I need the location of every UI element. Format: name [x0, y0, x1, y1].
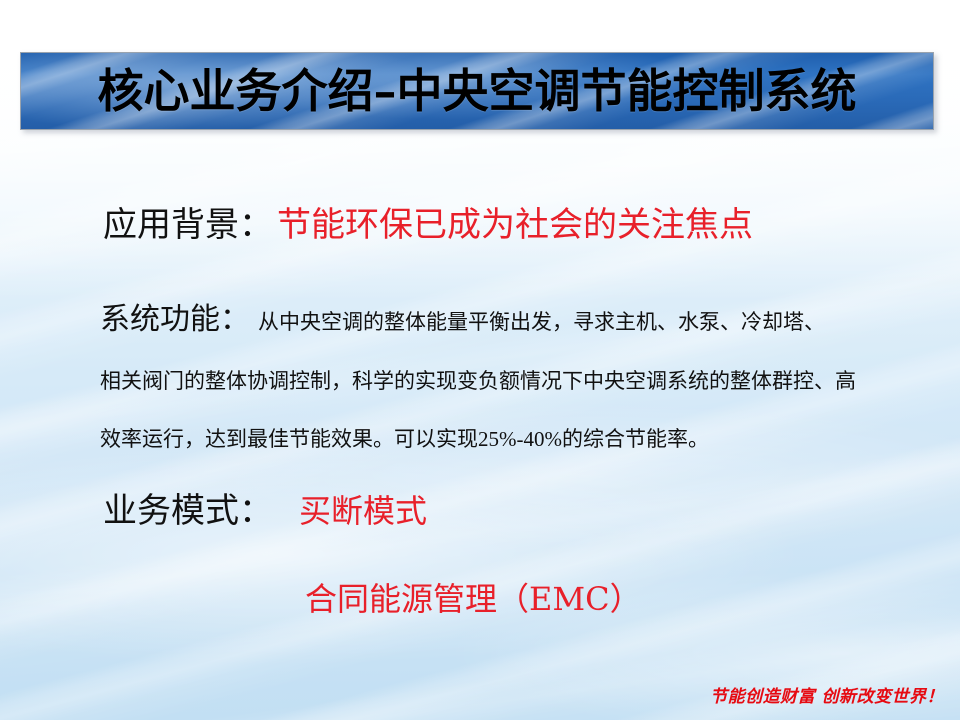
- section-application-background: 应用背景： 节能环保已成为社会的关注焦点: [103, 205, 753, 246]
- system-function-line-1: 从中央空调的整体能量平衡出发，寻求主机、水泵、冷却塔、: [258, 307, 825, 337]
- business-model-option-buyout: 买断模式: [299, 490, 427, 532]
- slide-content: 应用背景： 节能环保已成为社会的关注焦点 系统功能： 从中央空调的整体能量平衡出…: [0, 0, 960, 720]
- system-function-line-3: 效率运行，达到最佳节能效果。可以实现25%-40%的综合节能率。: [100, 424, 709, 454]
- application-background-value: 节能环保已成为社会的关注焦点: [277, 206, 753, 246]
- slide-canvas: 核心业务介绍–中央空调节能控制系统 应用背景： 节能环保已成为社会的关注焦点 系…: [0, 0, 960, 720]
- system-function-label: 系统功能：: [100, 302, 250, 338]
- section-system-function: 系统功能： 从中央空调的整体能量平衡出发，寻求主机、水泵、冷却塔、: [100, 302, 825, 338]
- business-model-label: 业务模式：: [103, 490, 273, 532]
- section-business-model: 业务模式： 买断模式: [103, 490, 427, 532]
- business-model-option-emc: 合同能源管理（EMC）: [305, 578, 642, 620]
- footer-slogan: 节能创造财富 创新改变世界！: [710, 686, 944, 708]
- system-function-line-2: 相关阀门的整体协调控制，科学的实现变负额情况下中央空调系统的整体群控、高: [100, 366, 856, 396]
- application-background-label: 应用背景：: [103, 205, 273, 245]
